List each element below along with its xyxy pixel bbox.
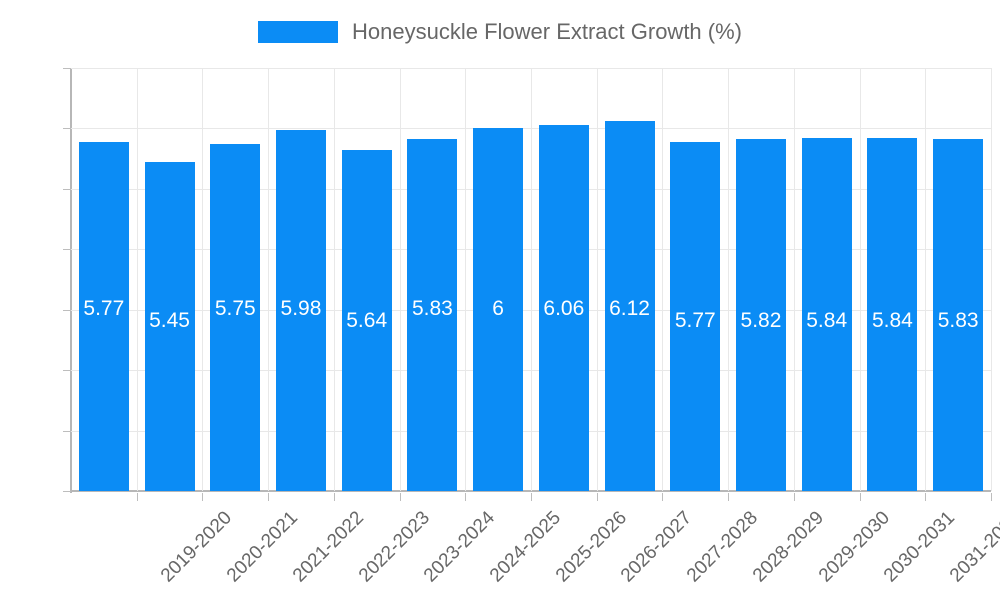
x-axis-tick-mark xyxy=(531,493,532,501)
gridline-vertical xyxy=(531,68,532,491)
x-axis-tick-label: 2020-2021 xyxy=(224,508,302,586)
bar-value-label: 5.45 xyxy=(133,310,207,331)
gridline-vertical xyxy=(662,68,663,491)
gridline-vertical xyxy=(465,68,466,491)
x-axis-tick-mark xyxy=(137,493,138,501)
gridline-vertical xyxy=(400,68,401,491)
x-axis-tick-mark xyxy=(334,493,335,501)
gridline-vertical xyxy=(268,68,269,491)
bar-value-label: 5.64 xyxy=(330,310,404,331)
y-axis-tick-mark xyxy=(63,431,71,432)
gridline-vertical xyxy=(137,68,138,491)
gridline-vertical xyxy=(334,68,335,491)
bar-value-label: 5.77 xyxy=(67,298,141,319)
bar-value-label: 5.83 xyxy=(396,298,470,319)
gridline-vertical xyxy=(728,68,729,491)
bar-value-label: 6.12 xyxy=(593,298,667,319)
y-axis-tick-mark xyxy=(63,249,71,250)
bar-value-label: 5.83 xyxy=(921,310,995,331)
legend-series-label: Honeysuckle Flower Extract Growth (%) xyxy=(352,21,742,43)
x-axis-tick-mark xyxy=(794,493,795,501)
x-axis-tick-mark xyxy=(860,493,861,501)
y-axis-tick-mark xyxy=(63,370,71,371)
bar-value-label: 5.77 xyxy=(658,310,732,331)
x-axis-tick-mark xyxy=(728,493,729,501)
gridline-vertical xyxy=(794,68,795,491)
bar-value-label: 5.84 xyxy=(790,310,864,331)
x-axis-tick-mark xyxy=(465,493,466,501)
x-axis-tick-label: 2024-2025 xyxy=(487,508,565,586)
y-axis-tick-mark xyxy=(63,128,71,129)
bar-value-label: 6.06 xyxy=(527,298,601,319)
bar-value-label: 5.84 xyxy=(856,310,930,331)
bar-value-label: 5.75 xyxy=(198,298,272,319)
x-axis-tick-mark xyxy=(662,493,663,501)
y-axis-tick-mark xyxy=(63,491,71,492)
chart-legend: Honeysuckle Flower Extract Growth (%) xyxy=(0,12,1000,52)
gridline-vertical xyxy=(597,68,598,491)
x-axis-tick-mark xyxy=(400,493,401,501)
x-axis-tick-mark xyxy=(202,493,203,501)
gridline-vertical xyxy=(202,68,203,491)
bar-value-label: 5.98 xyxy=(264,298,338,319)
x-axis-tick-label: 2019-2020 xyxy=(158,508,236,586)
gridline-vertical xyxy=(991,68,992,491)
bar-value-label: 6 xyxy=(461,298,535,319)
bar-chart: Honeysuckle Flower Extract Growth (%) 01… xyxy=(0,0,1000,600)
gridline-vertical xyxy=(860,68,861,491)
x-axis-tick-label: 2021-2022 xyxy=(290,508,368,586)
x-axis-tick-label: 2028-2029 xyxy=(750,508,828,586)
x-axis-tick-mark xyxy=(268,493,269,501)
y-axis-tick-mark xyxy=(63,68,71,69)
plot-area: 5.775.455.755.985.645.8366.066.125.775.8… xyxy=(71,68,991,491)
y-axis-tick-mark xyxy=(63,189,71,190)
legend-color-swatch[interactable] xyxy=(258,21,338,43)
x-axis-tick-label: 2027-2028 xyxy=(684,508,762,586)
x-axis-tick-mark xyxy=(925,493,926,501)
gridline-vertical xyxy=(925,68,926,491)
bar-value-label: 5.82 xyxy=(724,310,798,331)
x-axis-tick-mark xyxy=(597,493,598,501)
x-axis-tick-mark xyxy=(991,493,992,501)
